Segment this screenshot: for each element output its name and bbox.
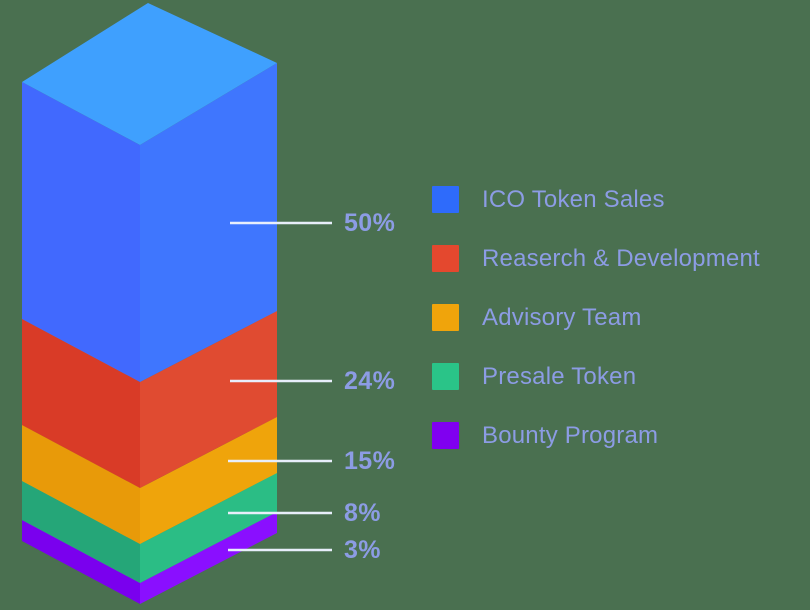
legend-item-bounty-program[interactable]: Bounty Program [432, 406, 802, 465]
legend-label-presale-token: Presale Token [482, 363, 636, 391]
legend-item-presale-token[interactable]: Presale Token [432, 347, 802, 406]
chart-legend: ICO Token Sales Reaserch & Development A… [432, 170, 802, 465]
legend-item-ico-token-sales[interactable]: ICO Token Sales [432, 170, 802, 229]
callout-label-ico-token-sales: 50% [344, 209, 395, 238]
callout-label-bounty-program: 3% [344, 536, 381, 565]
legend-item-advisory-team[interactable]: Advisory Team [432, 288, 802, 347]
callout-label-advisory-team: 15% [344, 447, 395, 476]
callout-label-presale-token: 8% [344, 499, 381, 528]
chart-canvas: 50% 24% 15% 8% 3% ICO Token Sales Reaser… [0, 0, 810, 610]
callout-label-research-development: 24% [344, 367, 395, 396]
legend-label-bounty-program: Bounty Program [482, 422, 658, 450]
legend-swatch-bounty-program [432, 422, 459, 449]
bar-segment-ico-token-sales [22, 3, 277, 382]
legend-item-research-development[interactable]: Reaserch & Development [432, 229, 802, 288]
legend-label-advisory-team: Advisory Team [482, 304, 642, 332]
legend-swatch-ico-token-sales [432, 186, 459, 213]
legend-label-research-development: Reaserch & Development [482, 245, 760, 273]
legend-swatch-advisory-team [432, 304, 459, 331]
legend-label-ico-token-sales: ICO Token Sales [482, 186, 665, 214]
legend-swatch-research-development [432, 245, 459, 272]
legend-swatch-presale-token [432, 363, 459, 390]
